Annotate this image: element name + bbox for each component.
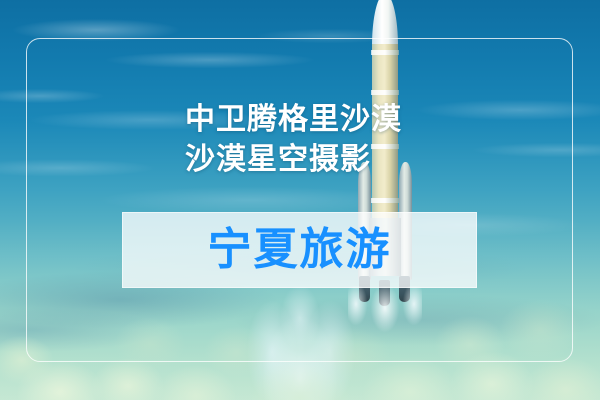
banner-title: 宁夏旅游 — [208, 228, 392, 272]
poster-canvas: 中卫腾格里沙漠 沙漠星空摄影 宁夏旅游 — [0, 0, 600, 400]
headline-line-1: 中卫腾格里沙漠 — [185, 100, 402, 140]
headline-line-2: 沙漠星空摄影 — [185, 140, 402, 180]
atmospheric-veil — [0, 0, 600, 400]
poster-headline: 中卫腾格里沙漠 沙漠星空摄影 — [185, 100, 402, 180]
highlight-banner: 宁夏旅游 — [122, 212, 477, 288]
